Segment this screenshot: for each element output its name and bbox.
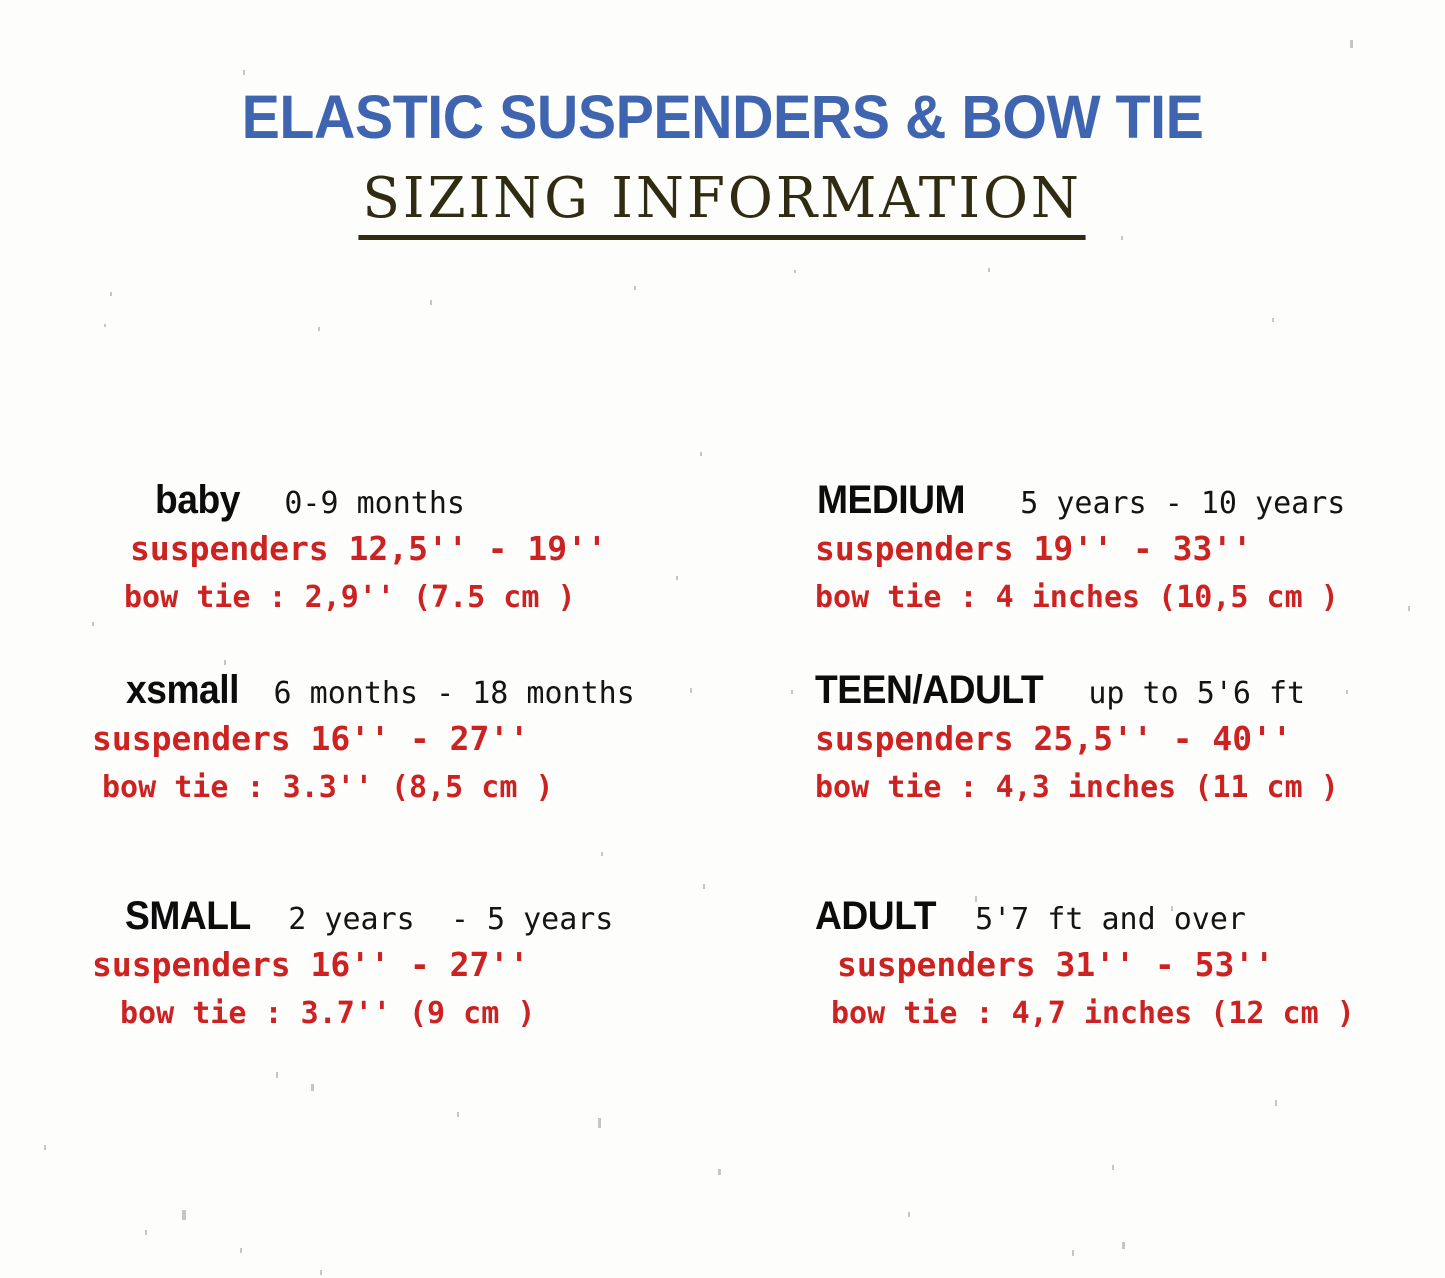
bow-tie-measurement-adult: bow tie : 4,7 inches (12 cm ) <box>745 996 1445 1031</box>
age-range-xsmall: 6 months - 18 months <box>274 676 635 711</box>
size-entry-head: ADULT 5'7 ft and over <box>745 894 1445 939</box>
size-entry-head: baby 0-9 months <box>0 478 700 523</box>
size-entry-head: xsmall 6 months - 18 months <box>0 668 700 713</box>
age-range-teen-adult: up to 5'6 ft <box>1088 676 1305 711</box>
size-entry-head: SMALL 2 years - 5 years <box>0 894 700 939</box>
suspenders-measurement-medium: suspenders 19'' - 33'' <box>745 529 1445 568</box>
bow-tie-measurement-small: bow tie : 3.7'' (9 cm ) <box>0 996 700 1031</box>
size-column-right: MEDIUM 5 years - 10 years suspenders 19'… <box>745 478 1445 1098</box>
page-title: ELASTIC SUSPENDERS & BOW TIE <box>43 86 1401 148</box>
size-label-adult: ADULT <box>815 894 936 939</box>
size-entry-medium: MEDIUM 5 years - 10 years suspenders 19'… <box>745 478 1445 615</box>
size-label-teen-adult: TEEN/ADULT <box>815 668 1043 713</box>
size-label-baby: baby <box>155 478 240 523</box>
suspenders-measurement-small: suspenders 16'' - 27'' <box>0 945 700 984</box>
suspenders-measurement-adult: suspenders 31'' - 53'' <box>745 945 1445 984</box>
suspenders-measurement-baby: suspenders 12,5'' - 19'' <box>0 529 700 568</box>
size-entry-teen-adult: TEEN/ADULT up to 5'6 ft suspenders 25,5'… <box>745 668 1445 805</box>
page-subtitle: SIZING INFORMATION <box>359 170 1086 240</box>
age-range-baby: 0-9 months <box>284 486 465 521</box>
sizing-information-sheet: ELASTIC SUSPENDERS & BOW TIE SIZING INFO… <box>0 0 1445 1278</box>
age-range-adult: 5'7 ft and over <box>975 902 1246 937</box>
suspenders-measurement-teen-adult: suspenders 25,5'' - 40'' <box>745 719 1445 758</box>
size-entry-head: MEDIUM 5 years - 10 years <box>745 478 1445 523</box>
page-subtitle-wrap: SIZING INFORMATION <box>0 170 1445 240</box>
size-column-left: baby 0-9 months suspenders 12,5'' - 19''… <box>0 478 700 1098</box>
size-chart-grid: baby 0-9 months suspenders 12,5'' - 19''… <box>0 478 1445 1098</box>
size-entry-small: SMALL 2 years - 5 years suspenders 16'' … <box>0 894 700 1031</box>
size-label-xsmall: xsmall <box>126 668 239 713</box>
size-entry-xsmall: xsmall 6 months - 18 months suspenders 1… <box>0 668 700 805</box>
size-label-small: SMALL <box>125 894 251 939</box>
bow-tie-measurement-teen-adult: bow tie : 4,3 inches (11 cm ) <box>745 770 1445 805</box>
age-range-small: 2 years - 5 years <box>288 902 613 937</box>
bow-tie-measurement-xsmall: bow tie : 3.3'' (8,5 cm ) <box>0 770 700 805</box>
bow-tie-measurement-baby: bow tie : 2,9'' (7.5 cm ) <box>0 580 700 615</box>
size-entry-head: TEEN/ADULT up to 5'6 ft <box>745 668 1445 713</box>
page-header: ELASTIC SUSPENDERS & BOW TIE SIZING INFO… <box>0 86 1445 240</box>
bow-tie-measurement-medium: bow tie : 4 inches (10,5 cm ) <box>745 580 1445 615</box>
size-label-medium: MEDIUM <box>817 478 965 523</box>
suspenders-measurement-xsmall: suspenders 16'' - 27'' <box>0 719 700 758</box>
age-range-medium: 5 years - 10 years <box>1020 486 1345 521</box>
size-entry-baby: baby 0-9 months suspenders 12,5'' - 19''… <box>0 478 700 615</box>
size-entry-adult: ADULT 5'7 ft and over suspenders 31'' - … <box>745 894 1445 1031</box>
